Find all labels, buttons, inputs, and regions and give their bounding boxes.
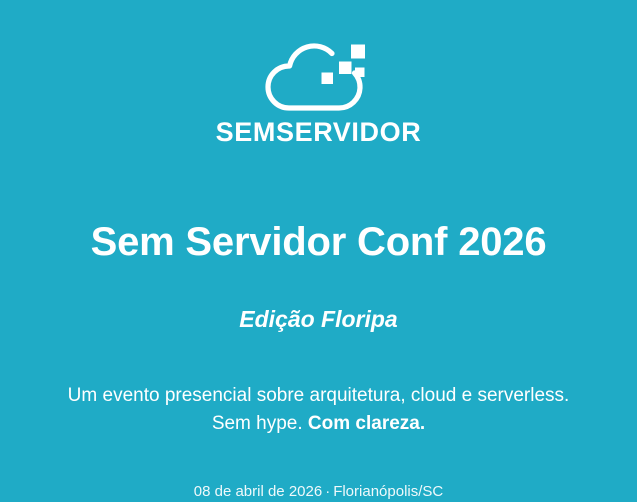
event-subtitle: Edição Floripa: [239, 307, 397, 332]
brand-logo: SEMSERVIDOR: [216, 36, 422, 146]
cloud-with-data-squares-icon: [259, 36, 379, 114]
description-line-2-regular: Sem hype.: [212, 413, 303, 434]
description-line-1: Um evento presencial sobre arquitetura, …: [68, 382, 570, 410]
description-line-2: Sem hype. Com clareza.: [68, 410, 570, 438]
description-line-2-emphasis: Com clareza.: [308, 413, 425, 434]
event-title: Sem Servidor Conf 2026: [91, 220, 547, 264]
event-location: Florianópolis/SC: [333, 483, 443, 500]
event-date: 08 de abril de 2026: [194, 483, 322, 500]
event-meta: 08 de abril de 2026·Florianópolis/SC: [194, 482, 443, 502]
meta-separator: ·: [322, 483, 333, 500]
brand-wordmark: SEMSERVIDOR: [216, 119, 422, 146]
event-description: Um evento presencial sobre arquitetura, …: [68, 382, 570, 437]
event-hero-banner: SEMSERVIDOR Sem Servidor Conf 2026 Ediçã…: [0, 0, 637, 463]
